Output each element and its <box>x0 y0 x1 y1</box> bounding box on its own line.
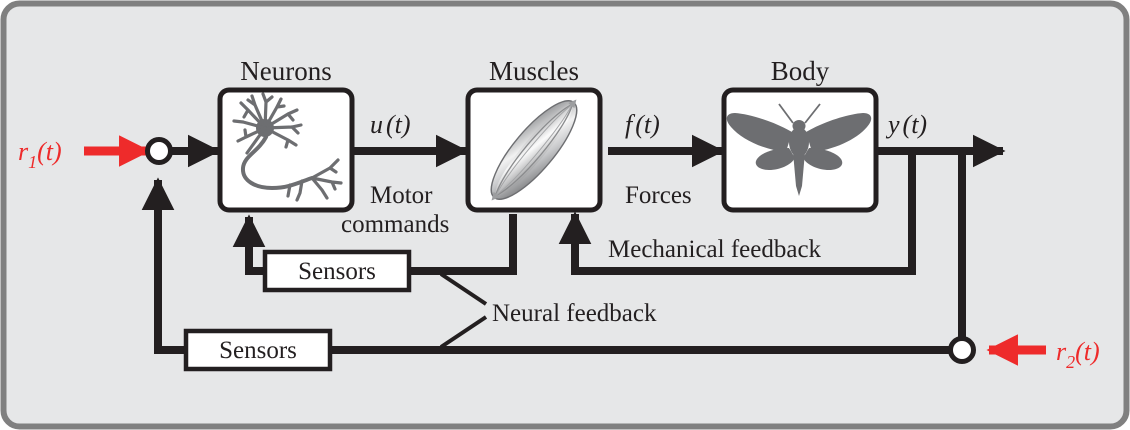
signal-y-label: y(t) <box>885 110 927 139</box>
block-body[interactable] <box>724 90 876 210</box>
sensors-box-inner[interactable]: Sensors <box>265 252 409 290</box>
neural-feedback-label: Neural feedback <box>492 300 657 327</box>
body-title: Body <box>771 56 830 86</box>
signal-f-label: f(t) <box>625 110 660 139</box>
sensors-inner-label: Sensors <box>298 258 376 285</box>
neurons-title: Neurons <box>240 56 331 86</box>
figure-root: Sensors Sensors Neurons Muscles Body r1(… <box>0 0 1130 430</box>
summing-junction-bottom-right[interactable] <box>951 339 974 362</box>
sensors-box-outer[interactable]: Sensors <box>186 331 330 369</box>
motor-commands-label-line2: commands <box>341 211 449 238</box>
block-muscles[interactable] <box>468 87 600 214</box>
neurons-block-frame[interactable] <box>220 90 352 210</box>
block-diagram-canvas: Sensors Sensors Neurons Muscles Body r1(… <box>0 0 1130 430</box>
sensors-outer-label: Sensors <box>219 337 297 364</box>
mechanical-feedback-label: Mechanical feedback <box>608 236 822 263</box>
muscles-title: Muscles <box>489 56 579 86</box>
block-neurons[interactable] <box>220 90 352 210</box>
signal-u-label: u(t) <box>370 110 411 139</box>
motor-commands-label-line1: Motor <box>370 182 433 209</box>
forces-label: Forces <box>625 182 692 209</box>
summing-junction-left[interactable] <box>148 140 171 163</box>
